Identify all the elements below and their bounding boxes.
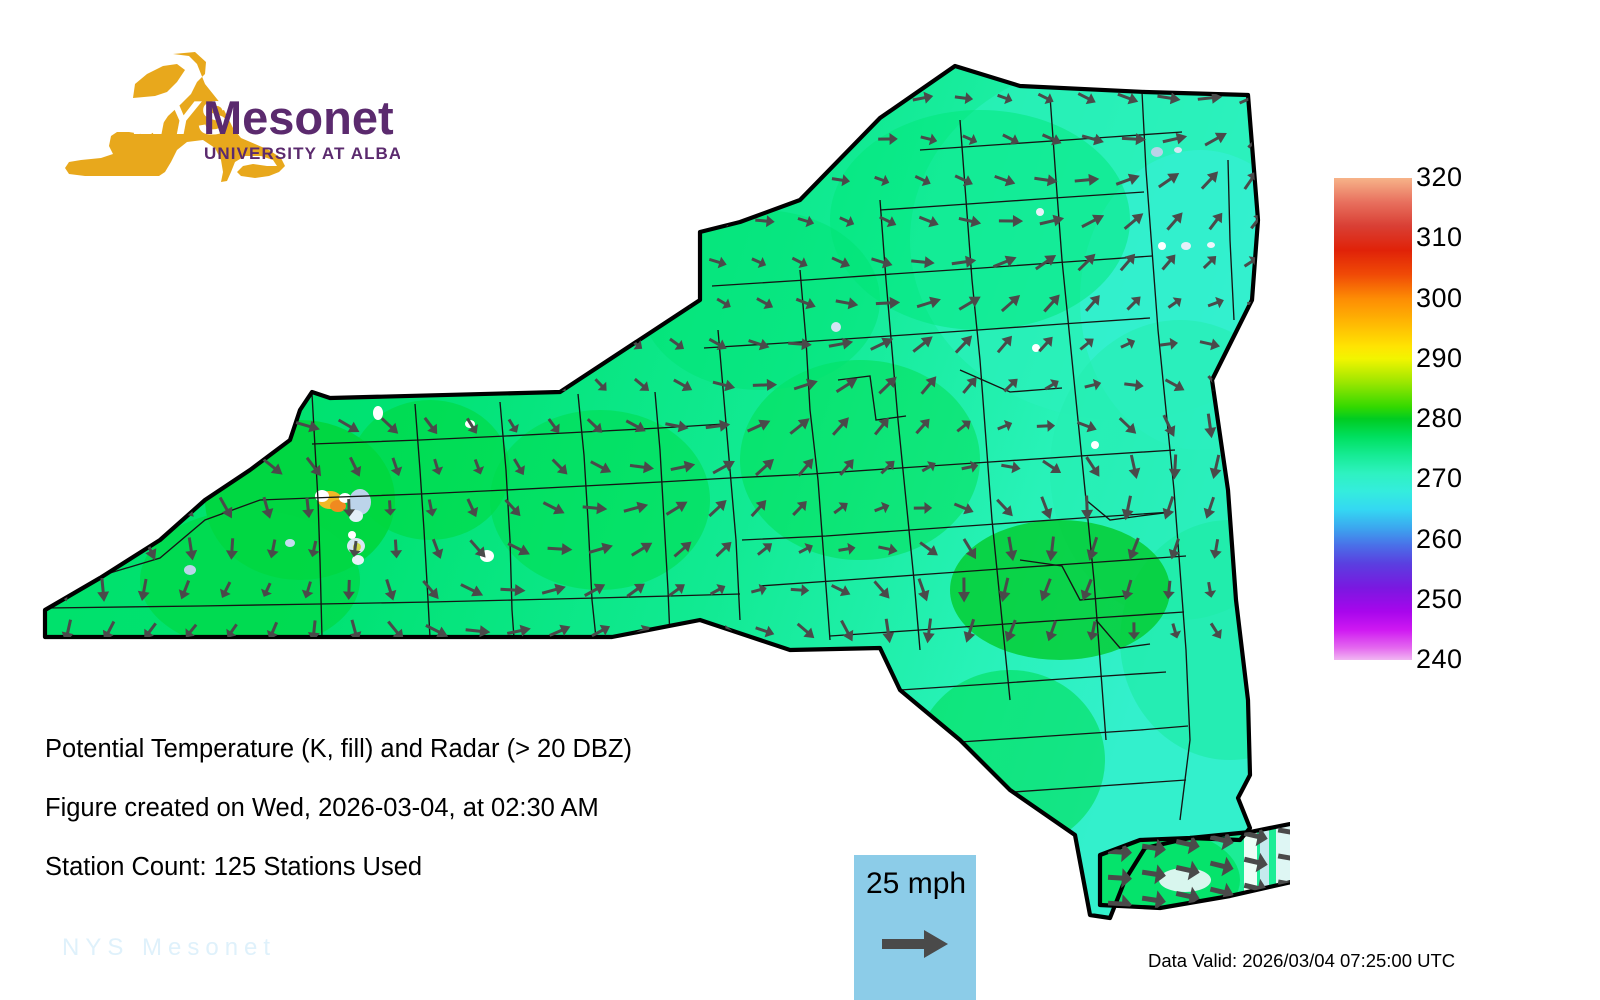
wind-arrow xyxy=(758,128,771,151)
wind-arrow xyxy=(677,127,689,152)
colorbar-tick: 310 xyxy=(1416,224,1463,251)
radar-echo xyxy=(1032,344,1040,352)
wind-arrow xyxy=(466,171,478,190)
wind-arrow xyxy=(299,336,317,353)
wind-arrow xyxy=(222,379,242,392)
wind-arrow xyxy=(344,254,356,272)
wind-arrow xyxy=(387,133,405,146)
wind-arrow xyxy=(141,379,158,390)
wind-arrow xyxy=(54,420,70,432)
wind-arrow xyxy=(266,297,280,310)
wind-arrow xyxy=(1246,582,1257,598)
wind-arrow xyxy=(140,297,160,309)
wind-arrow xyxy=(1248,623,1264,638)
wind-arrow xyxy=(348,294,361,314)
wind-arrow xyxy=(101,379,116,391)
wind-arrow xyxy=(428,294,445,314)
wind-arrow xyxy=(215,90,236,104)
colorbar: 320310300290280270260250240 xyxy=(1312,172,1592,667)
colorbar-tick: 240 xyxy=(1416,646,1463,673)
wind-arrow xyxy=(55,250,68,273)
wind-arrow xyxy=(302,133,326,145)
wind-arrow xyxy=(587,338,603,350)
wind-arrow xyxy=(94,92,112,104)
wind-arrow xyxy=(595,129,607,150)
wind-arrow xyxy=(98,461,120,473)
wind-arrow xyxy=(632,298,651,309)
wind-arrow xyxy=(177,338,192,349)
wind-arrow xyxy=(636,128,647,151)
wind-arrow xyxy=(544,338,563,350)
wind-arrow xyxy=(431,131,443,147)
wind-arrow xyxy=(134,254,154,268)
arrow-right-icon xyxy=(882,927,950,961)
wind-arrow xyxy=(134,93,154,104)
wind-arrow xyxy=(460,338,484,350)
wind-arrow xyxy=(175,91,195,104)
wind-arrow xyxy=(384,379,409,391)
wind-arrow xyxy=(216,256,235,268)
wind-arrow xyxy=(141,130,159,147)
wind-arrow xyxy=(61,209,74,232)
colorbar-gradient xyxy=(1334,178,1412,660)
colorbar-tick: 280 xyxy=(1416,405,1463,432)
wind-arrow xyxy=(95,169,110,190)
wind-arrow xyxy=(215,172,237,186)
caption-clipped-line: NYS Mesonet xyxy=(62,934,276,962)
wind-arrow xyxy=(590,297,612,309)
wind-arrow xyxy=(218,338,234,351)
wind-arrow xyxy=(594,210,607,233)
wind-arrow xyxy=(667,256,688,268)
wind-arrow xyxy=(584,256,606,269)
wind-arrow xyxy=(419,338,443,350)
wind-arrow xyxy=(258,337,275,353)
theta-warm-mohawk xyxy=(740,360,980,560)
wind-arrow xyxy=(833,88,848,109)
wind-arrow xyxy=(796,131,815,148)
wind-arrow xyxy=(718,127,730,152)
wind-arrow xyxy=(255,420,280,432)
wind-arrow xyxy=(748,174,769,187)
radar-echo xyxy=(1158,242,1166,250)
colorbar-tick: 270 xyxy=(1416,465,1463,492)
wind-arrow xyxy=(255,175,278,187)
wind-arrow xyxy=(511,377,526,391)
wind-arrow xyxy=(214,420,238,432)
caption-block: Potential Temperature (K, fill) and Rada… xyxy=(45,720,885,897)
wind-arrow xyxy=(431,211,443,231)
wind-arrow xyxy=(57,541,79,555)
wind-arrow xyxy=(589,168,601,192)
colorbar-tick: 260 xyxy=(1416,526,1463,553)
wind-arrow xyxy=(174,420,197,432)
wind-arrow xyxy=(297,174,318,186)
wind-arrow xyxy=(753,86,765,111)
colorbar-tick: 320 xyxy=(1416,164,1463,191)
radar-echo xyxy=(1181,242,1191,250)
wind-arrow xyxy=(180,213,201,228)
wind-arrow xyxy=(507,170,519,191)
wind-arrow xyxy=(548,90,560,106)
wind-arrow xyxy=(507,297,530,310)
wind-arrow xyxy=(339,337,359,353)
wind-arrow xyxy=(422,92,440,106)
wind-arrow xyxy=(59,134,77,145)
wind-arrow xyxy=(589,90,600,108)
wind-arrow xyxy=(505,251,519,273)
radar-echo xyxy=(1151,147,1163,157)
wind-arrow xyxy=(307,295,320,312)
wind-arrow xyxy=(259,256,274,267)
wind-arrow xyxy=(1251,455,1263,478)
wind-arrow xyxy=(54,92,69,104)
wind-arrow xyxy=(1241,337,1261,351)
wind-arrow xyxy=(221,216,243,228)
theta-warm-fingerlakes xyxy=(350,400,510,540)
wind-arrow xyxy=(426,251,438,273)
radar-echo xyxy=(348,531,356,539)
wind-arrow xyxy=(1251,540,1263,557)
wind-arrow xyxy=(91,503,115,515)
radar-echo xyxy=(831,322,841,332)
wind-arrow xyxy=(671,88,684,109)
wind-arrow xyxy=(261,132,284,145)
wind-arrow xyxy=(388,293,402,314)
wind-arrow xyxy=(554,130,565,149)
wind-arrow xyxy=(671,169,684,192)
wind-arrow xyxy=(675,625,690,637)
radar-echo xyxy=(1091,441,1099,449)
colorbar-tick: 290 xyxy=(1416,345,1463,372)
wind-arrow xyxy=(513,130,525,147)
wind-arrow xyxy=(467,295,488,312)
wind-arrow xyxy=(175,170,193,189)
wind-arrow xyxy=(391,213,402,230)
wind-arrow xyxy=(262,379,284,392)
wind-arrow xyxy=(59,293,75,312)
wind-arrow xyxy=(344,133,366,145)
caption-created: Figure created on Wed, 2026-03-04, at 02… xyxy=(45,779,885,838)
wind-arrow xyxy=(472,131,484,146)
wind-arrow xyxy=(426,379,448,391)
wind-arrow xyxy=(378,338,401,352)
wind-arrow xyxy=(507,90,519,107)
wind-arrow xyxy=(544,253,563,271)
wind-arrow xyxy=(1245,497,1257,518)
wind-arrow xyxy=(1251,373,1263,396)
colorbar-tick-labels: 320310300290280270260250240 xyxy=(1416,172,1536,667)
wind-arrow xyxy=(94,420,113,432)
radar-echo xyxy=(1207,242,1215,248)
wind-arrow xyxy=(306,215,322,227)
wind-arrow xyxy=(795,86,807,111)
wind-arrow xyxy=(225,297,239,308)
wind-arrow xyxy=(349,215,360,228)
wind-arrow xyxy=(99,132,117,145)
wind-arrow xyxy=(136,169,152,190)
wind-arrow xyxy=(466,251,478,274)
wind-arrow xyxy=(302,256,314,269)
wind-arrow xyxy=(872,92,892,106)
wind-arrow xyxy=(54,171,70,189)
wind-arrow xyxy=(100,539,118,559)
wind-arrow xyxy=(181,129,199,147)
wind-arrow xyxy=(181,379,200,391)
wind-arrow xyxy=(256,90,278,104)
radar-echo xyxy=(1174,147,1182,153)
wind-arrow xyxy=(340,174,357,187)
caption-title: Potential Temperature (K, fill) and Rada… xyxy=(45,720,885,779)
wind-arrow xyxy=(174,257,195,269)
wind-arrow xyxy=(138,461,162,473)
wind-arrow xyxy=(709,171,727,189)
colorbar-tick: 300 xyxy=(1416,285,1463,312)
wind-arrow xyxy=(385,252,396,273)
wind-arrow xyxy=(630,89,643,108)
radar-echo xyxy=(184,565,196,575)
wind-arrow xyxy=(58,461,78,473)
wind-arrow xyxy=(712,87,724,110)
wind-legend-label: 25 mph xyxy=(866,869,966,899)
wind-arrow xyxy=(630,168,642,193)
wind-arrow xyxy=(59,379,77,391)
wind-arrow xyxy=(296,92,320,104)
wind-arrow xyxy=(502,339,524,351)
wind-arrow xyxy=(99,296,119,309)
radar-echo xyxy=(373,406,383,420)
wind-arrow xyxy=(94,252,111,272)
wind-arrow xyxy=(384,173,396,188)
wind-arrow xyxy=(555,209,567,234)
wind-arrow xyxy=(93,338,112,350)
wind-arrow xyxy=(133,420,154,431)
wind-arrow xyxy=(222,130,242,147)
radar-band xyxy=(1244,780,1257,930)
wind-arrow xyxy=(625,256,648,268)
wind-arrow xyxy=(342,379,367,391)
wind-arrow xyxy=(302,379,326,391)
wind-arrow xyxy=(790,174,811,186)
wind-arrow xyxy=(263,215,283,227)
wind-arrow xyxy=(175,498,194,517)
wind-arrow xyxy=(672,215,693,228)
wind-arrow xyxy=(337,92,362,104)
theta-warm-central xyxy=(490,410,710,590)
radar-echo xyxy=(285,539,295,547)
wind-speed-legend: 25 mph xyxy=(854,855,976,1000)
wind-arrow xyxy=(132,501,155,515)
data-valid-timestamp: Data Valid: 2026/03/04 07:25:00 UTC xyxy=(1148,950,1455,972)
colorbar-tick: 250 xyxy=(1416,586,1463,613)
wind-arrow xyxy=(633,212,651,231)
wind-arrow xyxy=(513,209,525,233)
radar-echo xyxy=(1036,208,1044,216)
wind-arrow xyxy=(136,338,152,350)
wind-arrow xyxy=(141,211,158,231)
wind-arrow xyxy=(472,210,484,232)
wind-arrow xyxy=(182,297,200,309)
wind-arrow xyxy=(468,378,487,391)
wind-arrow xyxy=(220,461,243,474)
wind-arrow xyxy=(52,338,72,351)
caption-station-count: Station Count: 125 Stations Used xyxy=(45,838,885,897)
wind-arrow xyxy=(548,169,560,192)
wind-arrow xyxy=(102,209,116,232)
wind-arrow xyxy=(1245,414,1257,439)
wind-arrow xyxy=(466,90,478,108)
wind-arrow xyxy=(50,502,73,514)
wind-arrow xyxy=(179,461,204,473)
wind-arrow xyxy=(548,297,571,309)
wind-arrow xyxy=(426,172,438,188)
wind-arrow xyxy=(378,92,401,104)
